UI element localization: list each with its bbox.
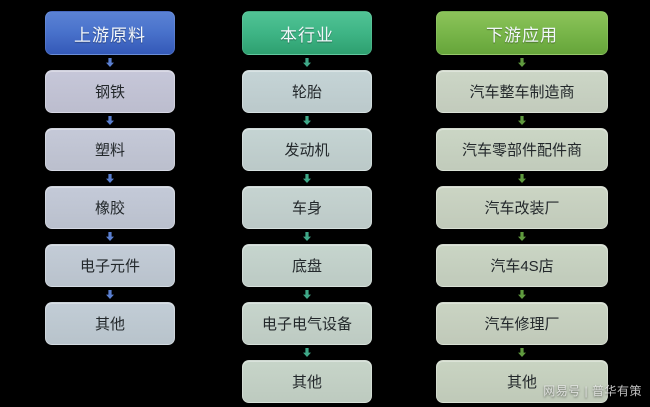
- node-box[interactable]: 电子元件: [45, 244, 175, 287]
- column-header-label: 上游原料: [74, 21, 146, 46]
- industry-chain-diagram: 上游原料钢铁塑料橡胶电子元件其他本行业轮胎发动机车身底盘电子电气设备其他下游应用…: [0, 0, 650, 407]
- column-header-upstream[interactable]: 上游原料: [45, 11, 175, 55]
- arrow-down-icon: [303, 58, 311, 67]
- arrow-down-icon: [106, 232, 114, 241]
- node-label: 汽车零部件配件商: [462, 139, 582, 160]
- arrow-down-icon: [303, 116, 311, 125]
- arrow-down-icon: [518, 290, 526, 299]
- arrow-down-icon: [518, 232, 526, 241]
- node-box[interactable]: 汽车修理厂: [436, 302, 608, 345]
- node-label: 汽车改装厂: [484, 197, 559, 218]
- node-box[interactable]: 塑料: [45, 128, 175, 171]
- arrow-down-icon: [303, 348, 311, 357]
- node-label: 汽车4S店: [490, 255, 553, 276]
- node-label: 电子元件: [80, 255, 140, 276]
- arrow-down-icon: [518, 174, 526, 183]
- node-box[interactable]: 车身: [242, 186, 372, 229]
- node-box[interactable]: 底盘: [242, 244, 372, 287]
- node-label: 其他: [95, 313, 125, 334]
- node-box[interactable]: 汽车4S店: [436, 244, 608, 287]
- column-header-label: 本行业: [280, 21, 334, 46]
- node-label: 车身: [292, 197, 322, 218]
- arrow-down-icon: [518, 58, 526, 67]
- arrow-down-icon: [518, 348, 526, 357]
- node-label: 钢铁: [95, 81, 125, 102]
- node-box[interactable]: 钢铁: [45, 70, 175, 113]
- node-label: 汽车整车制造商: [469, 81, 574, 102]
- node-box[interactable]: 汽车整车制造商: [436, 70, 608, 113]
- arrow-down-icon: [106, 116, 114, 125]
- node-box[interactable]: 汽车零部件配件商: [436, 128, 608, 171]
- arrow-down-icon: [106, 58, 114, 67]
- arrow-down-icon: [106, 174, 114, 183]
- node-label: 发动机: [284, 139, 329, 160]
- column-industry: 本行业轮胎发动机车身底盘电子电气设备其他: [242, 0, 372, 403]
- column-header-downstream[interactable]: 下游应用: [436, 11, 608, 55]
- column-header-label: 下游应用: [486, 21, 558, 46]
- node-label: 轮胎: [292, 81, 322, 102]
- column-upstream: 上游原料钢铁塑料橡胶电子元件其他: [45, 0, 175, 345]
- node-label: 其他: [507, 371, 537, 392]
- node-label: 塑料: [95, 139, 125, 160]
- node-box[interactable]: 发动机: [242, 128, 372, 171]
- node-label: 其他: [292, 371, 322, 392]
- watermark-label: 网易号 | 普华有策: [543, 382, 642, 399]
- node-box[interactable]: 其他: [45, 302, 175, 345]
- arrow-down-icon: [303, 290, 311, 299]
- arrow-down-icon: [106, 290, 114, 299]
- column-header-industry[interactable]: 本行业: [242, 11, 372, 55]
- arrow-down-icon: [303, 232, 311, 241]
- node-label: 汽车修理厂: [484, 313, 559, 334]
- node-label: 橡胶: [95, 197, 125, 218]
- node-box[interactable]: 其他: [242, 360, 372, 403]
- node-box[interactable]: 轮胎: [242, 70, 372, 113]
- column-downstream: 下游应用汽车整车制造商汽车零部件配件商汽车改装厂汽车4S店汽车修理厂其他: [436, 0, 608, 403]
- node-box[interactable]: 汽车改装厂: [436, 186, 608, 229]
- node-label: 电子电气设备: [262, 313, 352, 334]
- arrow-down-icon: [518, 116, 526, 125]
- node-box[interactable]: 橡胶: [45, 186, 175, 229]
- node-label: 底盘: [292, 255, 322, 276]
- node-box[interactable]: 电子电气设备: [242, 302, 372, 345]
- arrow-down-icon: [303, 174, 311, 183]
